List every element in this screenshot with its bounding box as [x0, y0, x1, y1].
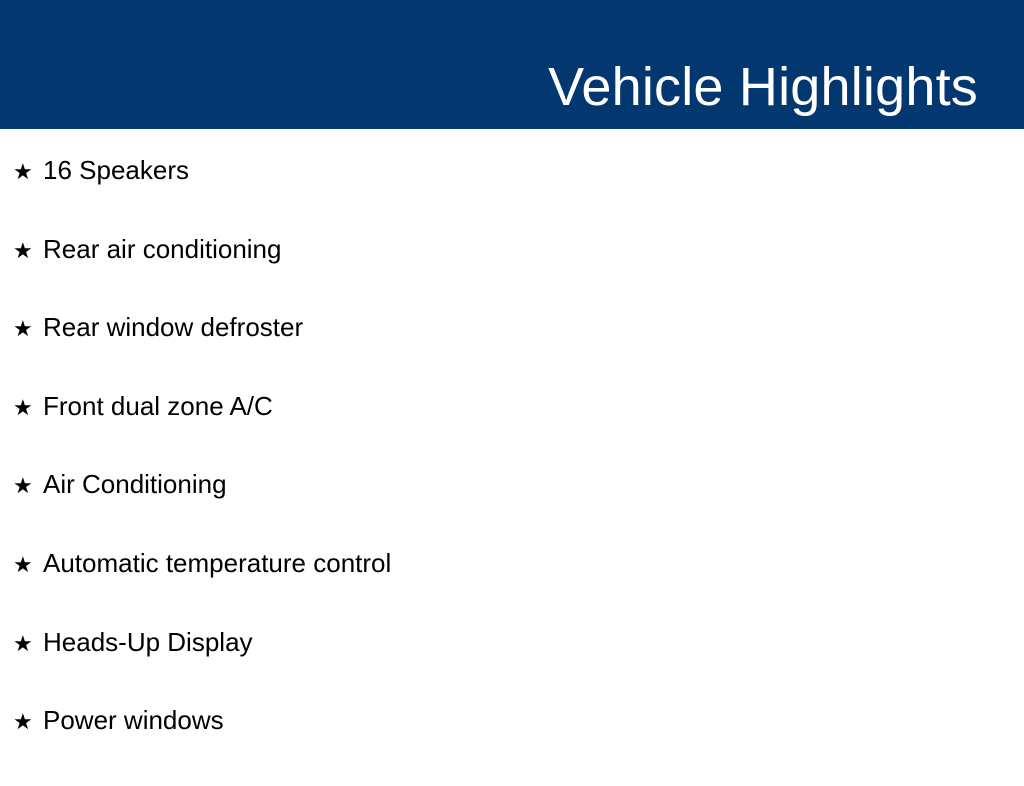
star-icon: ★: [13, 634, 43, 656]
page-title: Vehicle Highlights: [548, 59, 978, 116]
list-item: ★ Rear window defroster: [0, 314, 1024, 393]
list-item-label: Air Conditioning: [43, 471, 227, 497]
slide-header-band: Vehicle Highlights: [0, 0, 1024, 129]
list-item: ★ Rear air conditioning: [0, 236, 1024, 315]
list-item: ★ Automatic temperature control: [0, 550, 1024, 629]
list-item-label: Rear window defroster: [43, 314, 303, 340]
list-item: ★ 16 Speakers: [0, 157, 1024, 236]
list-item: ★ Front dual zone A/C: [0, 393, 1024, 472]
slide-body: ★ 16 Speakers ★ Rear air conditioning ★ …: [0, 129, 1024, 768]
list-item-label: Automatic temperature control: [43, 550, 391, 576]
list-item: ★ Heads-Up Display: [0, 629, 1024, 708]
star-icon: ★: [13, 241, 43, 263]
star-icon: ★: [13, 712, 43, 734]
list-item-label: Front dual zone A/C: [43, 393, 273, 419]
star-icon: ★: [13, 319, 43, 341]
list-item-label: Heads-Up Display: [43, 629, 253, 655]
vehicle-highlights-list: ★ 16 Speakers ★ Rear air conditioning ★ …: [0, 129, 1024, 786]
vehicle-highlights-slide: Vehicle Highlights ★ 16 Speakers ★ Rear …: [0, 0, 1024, 768]
list-item: ★ Air Conditioning: [0, 471, 1024, 550]
star-icon: ★: [13, 555, 43, 577]
list-item: ★ Power windows: [0, 707, 1024, 786]
star-icon: ★: [13, 398, 43, 420]
star-icon: ★: [13, 162, 43, 184]
list-item-label: Rear air conditioning: [43, 236, 281, 262]
list-item-label: Power windows: [43, 707, 224, 733]
star-icon: ★: [13, 476, 43, 498]
list-item-label: 16 Speakers: [43, 157, 189, 183]
